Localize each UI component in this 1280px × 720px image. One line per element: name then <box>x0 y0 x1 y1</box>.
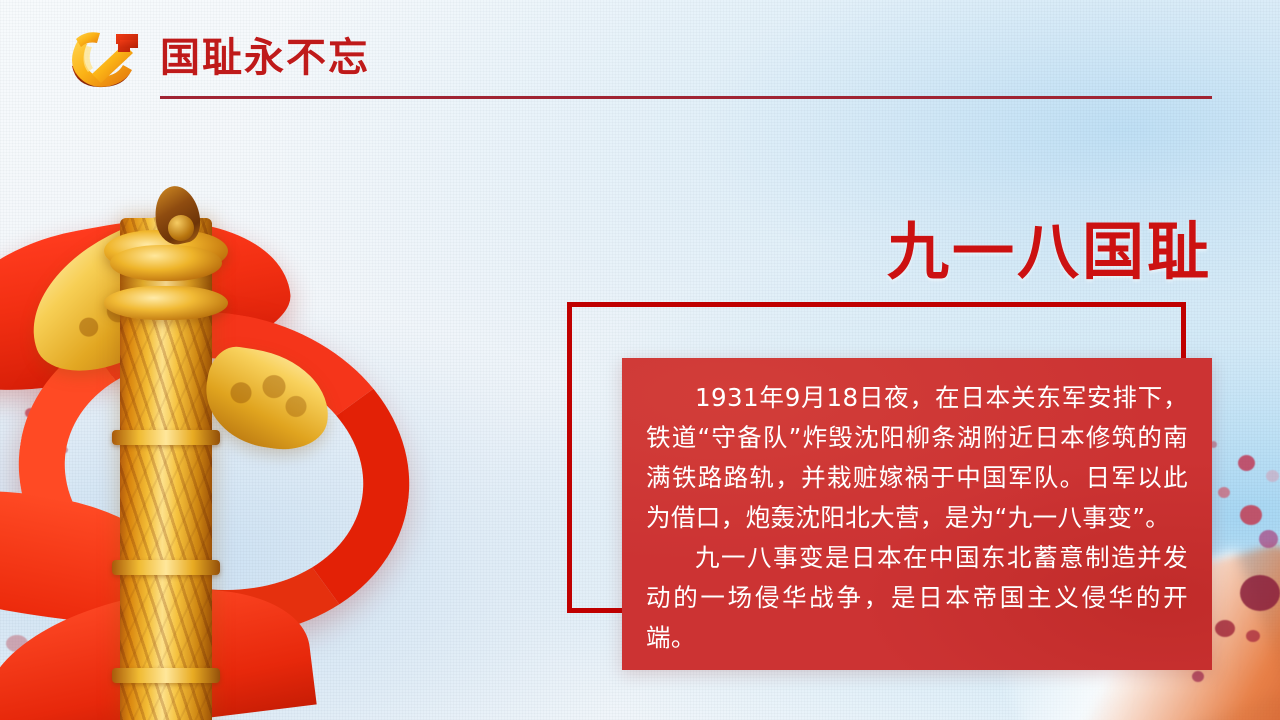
panel-body-text: 1931年9月18日夜，在日本关东军安排下，铁道“守备队”炸毁沈阳柳条湖附近日本… <box>646 378 1188 658</box>
panel-paragraph-1: 1931年9月18日夜，在日本关东军安排下，铁道“守备队”炸毁沈阳柳条湖附近日本… <box>646 378 1188 538</box>
cloud-wing-right-swirls <box>216 368 316 430</box>
slide-root: 国耻永不忘 九一八国耻 1931年9月18日夜，在日本关东军安排下，铁道“守备队… <box>0 0 1280 720</box>
panel-paragraph-2: 九一八事变是日本在中国东北蓄意制造并发动的一场侵华战争，是日本帝国主义侵华的开端… <box>646 538 1188 658</box>
column-ring <box>104 286 228 320</box>
content-panel: 1931年9月18日夜，在日本关东军安排下，铁道“守备队”炸毁沈阳柳条湖附近日本… <box>622 358 1212 670</box>
page-title: 国耻永不忘 <box>160 34 370 82</box>
header-divider <box>160 96 1212 99</box>
cpc-hammer-sickle-icon <box>56 26 162 92</box>
main-heading: 九一八国耻 <box>0 216 1212 288</box>
